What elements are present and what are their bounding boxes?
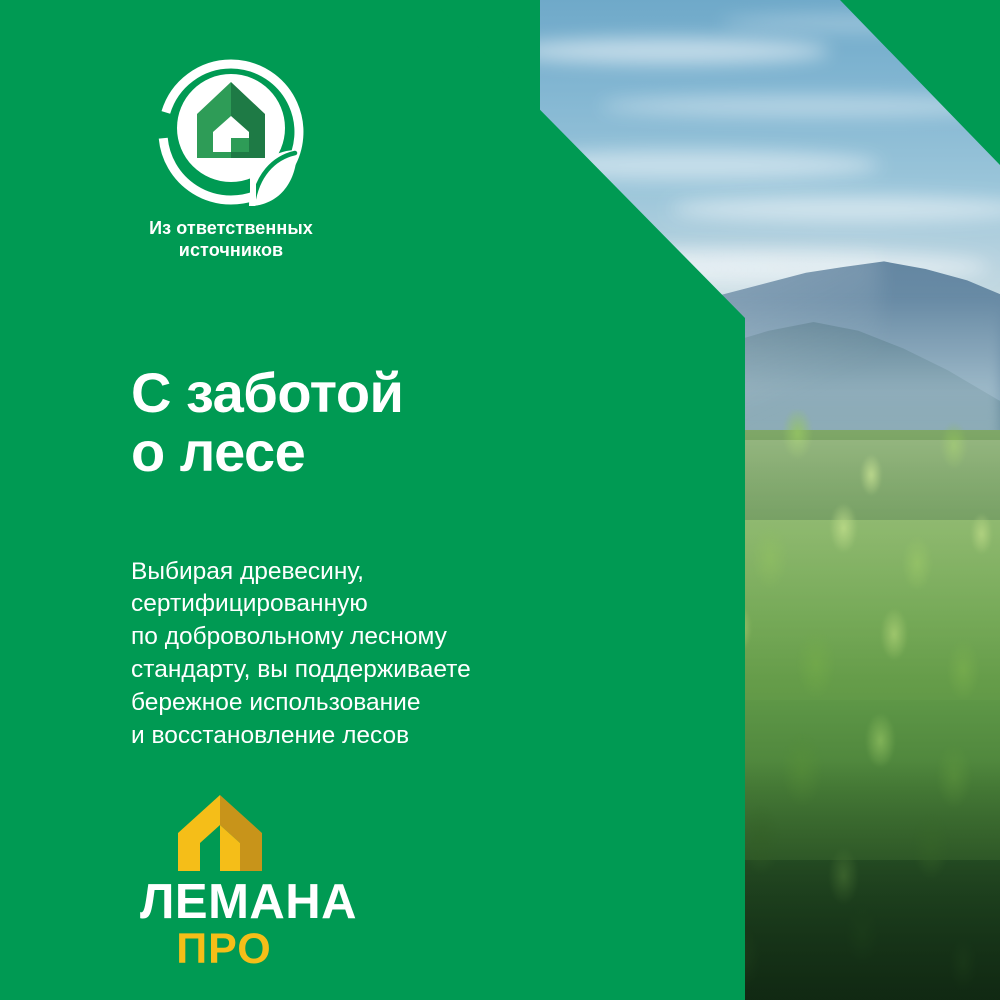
house-roof-icon [176, 793, 264, 873]
content-area: Из ответственных источников С заботой о … [0, 0, 745, 1000]
brand-name: ЛЕМАНА [140, 879, 370, 926]
brand-suffix: ПРО [140, 928, 308, 971]
house-leaf-circle-icon [157, 58, 305, 206]
poster: Из ответственных источников С заботой о … [0, 0, 1000, 1000]
certification-caption: Из ответственных источников [132, 218, 330, 262]
brand-lockup: ЛЕМАНА ПРО [140, 793, 370, 971]
body-text: Выбирая древесину, сертифицированную по … [131, 556, 471, 753]
page-title: С заботой о лесе [131, 363, 403, 482]
certification-badge: Из ответственных источников [132, 58, 392, 262]
